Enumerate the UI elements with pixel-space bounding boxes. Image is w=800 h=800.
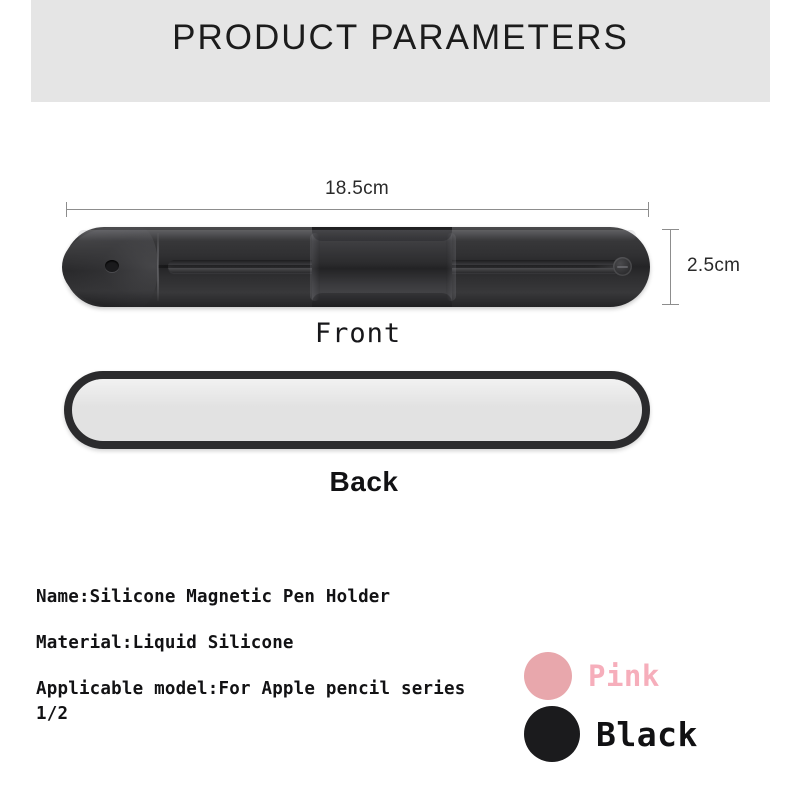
specification-list: Name:Silicone Magnetic Pen Holder Materi… [36,585,506,727]
front-bridge-notch-bottom [312,293,452,307]
color-options: Pink Black [524,648,784,764]
color-option-black[interactable]: Black [524,704,784,764]
height-dimension-line [670,229,671,305]
product-front-view [64,227,650,307]
pink-swatch-label: Pink [588,659,660,693]
front-tip-hole [105,260,119,272]
front-bridge-edge-right [446,233,456,301]
back-view-label: Back [0,466,728,498]
spec-material: Material:Liquid Silicone [36,631,506,656]
width-dimension-label: 18.5cm [66,178,648,200]
spec-applicable-model: Applicable model:For Apple pencil series… [36,677,506,727]
width-dimension-line [66,209,648,210]
black-swatch-circle [524,706,580,762]
height-dimension-tick-top [662,229,679,230]
width-dimension-tick-left [66,202,67,217]
front-logo-emblem [613,257,632,276]
spec-name: Name:Silicone Magnetic Pen Holder [36,585,506,610]
front-view-label: Front [0,318,716,349]
back-adhesive-surface [72,379,642,441]
color-option-pink[interactable]: Pink [524,648,784,704]
black-swatch-label: Black [596,715,698,754]
width-dimension-tick-right [648,202,649,217]
pink-swatch-circle [524,652,572,700]
front-bridge-notch-top [312,227,452,241]
height-dimension-label: 2.5cm [687,255,740,277]
page-title: PRODUCT PARAMETERS [31,18,770,58]
height-dimension-tick-bottom [662,304,679,305]
front-tip-seam-line [157,233,159,301]
product-back-view [64,371,650,449]
header-band: PRODUCT PARAMETERS [31,0,770,102]
front-bridge-edge-left [310,233,320,301]
